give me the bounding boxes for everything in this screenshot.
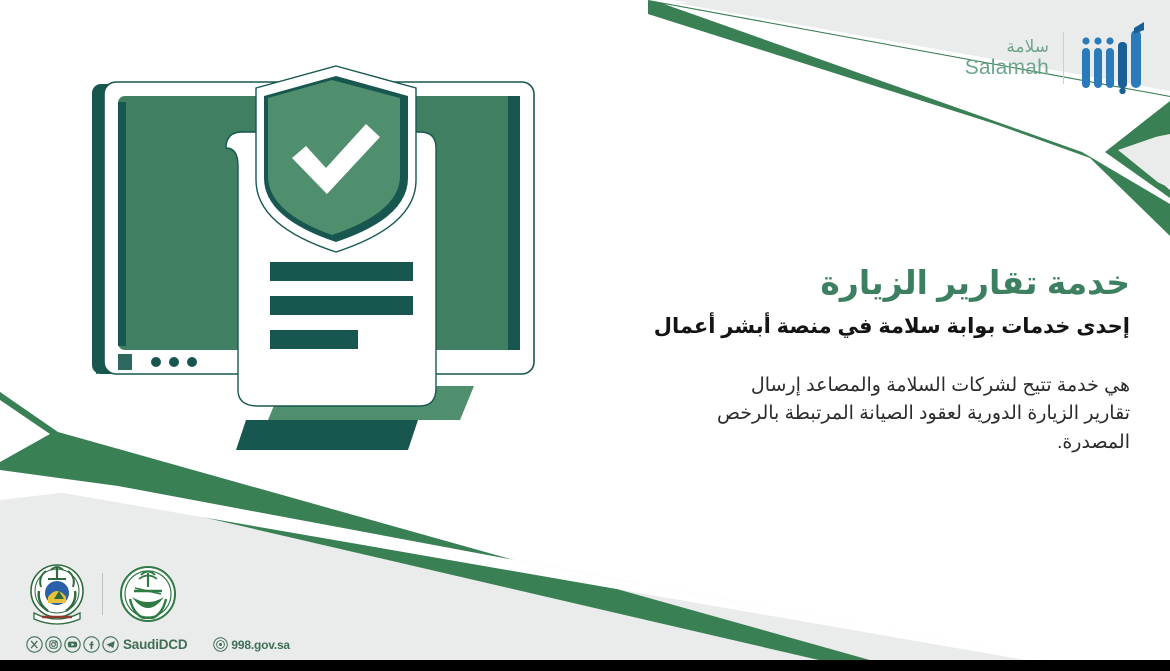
document-text-bar	[270, 262, 413, 281]
footer: SaudiDCD 998.gov.sa	[26, 561, 290, 653]
emblem-group	[26, 561, 290, 627]
top-right-gray-panel-2	[1080, 136, 1170, 188]
status-dot	[169, 357, 179, 367]
page-title: خدمة تقارير الزيارة	[510, 262, 1130, 303]
page-subtitle: إحدى خدمات بوابة سلامة في منصة أبشر أعما…	[510, 313, 1130, 341]
telegram-icon[interactable]	[102, 636, 119, 653]
globe-icon	[213, 637, 228, 652]
website-group[interactable]: 998.gov.sa	[213, 637, 289, 652]
absher-logo	[1078, 22, 1152, 94]
x-twitter-icon[interactable]	[26, 636, 43, 653]
monitor-stand-neck	[236, 420, 418, 450]
document-text-bar	[270, 330, 358, 349]
social-icon-group	[26, 636, 119, 653]
youtube-icon[interactable]	[64, 636, 81, 653]
ministry-of-interior-emblem	[117, 561, 179, 627]
monitor-screen-left-edge	[118, 102, 126, 346]
facebook-icon[interactable]	[83, 636, 100, 653]
service-illustration	[78, 58, 558, 478]
tr-gray-b	[1090, 134, 1170, 186]
bottom-black-bar	[0, 660, 1170, 671]
website-url: 998.gov.sa	[231, 638, 289, 652]
status-dot	[187, 357, 197, 367]
document-text-bar	[270, 296, 413, 315]
salamah-arabic-label: سلامة	[1006, 37, 1049, 56]
instagram-icon[interactable]	[45, 636, 62, 653]
social-row: SaudiDCD 998.gov.sa	[26, 636, 290, 653]
emblem-divider	[102, 573, 103, 615]
salamah-wordmark: سلامة Salamah	[965, 37, 1049, 80]
social-handle: SaudiDCD	[123, 637, 187, 652]
text-block: خدمة تقارير الزيارة إحدى خدمات بوابة سلا…	[510, 262, 1130, 458]
service-description: هي خدمة تتيح لشركات السلامة والمصاعد إرس…	[710, 372, 1130, 459]
monitor-grill	[118, 354, 132, 370]
status-dot	[151, 357, 161, 367]
salamah-english-label: Salamah	[965, 56, 1049, 80]
bottom-left-dark-tip	[0, 392, 56, 470]
brand-lockup: سلامة Salamah	[965, 22, 1152, 94]
bl-white-notch	[0, 400, 50, 462]
logo-divider	[1063, 32, 1064, 84]
bottom-left-band-green	[0, 394, 52, 470]
saudi-civil-defense-emblem	[26, 561, 88, 627]
poster-canvas: سلامة Salamah	[0, 0, 1170, 671]
